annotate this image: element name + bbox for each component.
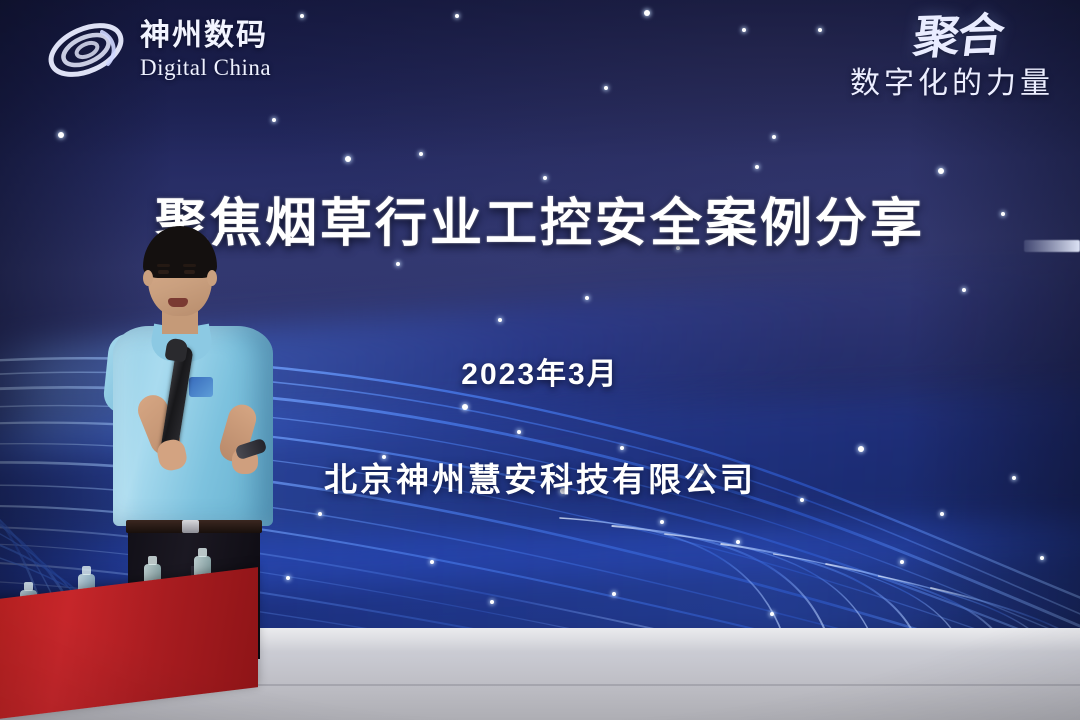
microphone-head <box>164 337 188 362</box>
speaker-ear-left <box>143 270 153 286</box>
event-logo-lockup: 聚合 数字化的力量 <box>850 14 1054 99</box>
speaker-hair <box>143 226 217 278</box>
speaker-shirt-logo <box>189 377 213 397</box>
speaker-eye-left <box>158 270 169 274</box>
speaker-belt-buckle <box>182 520 199 533</box>
speaker-eye-right <box>184 270 195 274</box>
conference-stage-photo: 神州数码 Digital China 聚合 数字化的力量 聚焦烟草行业工控安全案… <box>0 0 1080 720</box>
event-mark-calligraphy: 聚合 <box>911 12 1005 61</box>
event-tagline: 数字化的力量 <box>850 69 1054 99</box>
speaker-mouth <box>168 298 188 307</box>
red-table-cloth <box>0 567 258 720</box>
digital-china-spiral-logo <box>44 18 128 82</box>
speaker-ear-right <box>207 270 217 286</box>
press-table <box>0 584 258 720</box>
brand-name-en: Digital China <box>140 56 271 79</box>
screen-edge-light <box>1024 240 1080 252</box>
speaker-eyebrow-right <box>183 264 196 267</box>
brand-name-cn: 神州数码 <box>140 21 271 51</box>
digital-china-brand-lockup: 神州数码 Digital China <box>44 18 271 82</box>
speaker-eyebrow-left <box>157 264 170 267</box>
